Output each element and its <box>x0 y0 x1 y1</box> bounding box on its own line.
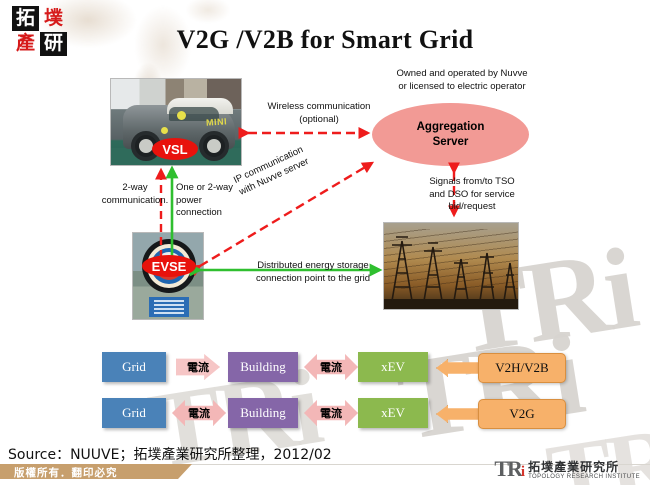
callout-v2h-v2b[interactable]: V2H/V2B <box>478 353 566 383</box>
ip-communication-label: IP communication with Nuvve server <box>232 125 351 198</box>
grid-horizon <box>384 299 518 309</box>
two-way-communication-label: 2-way communication. <box>96 182 174 207</box>
car-wheel <box>199 131 229 161</box>
flow-box-building[interactable]: Building <box>228 398 298 428</box>
flow-arrow-building-xev: 電流 <box>304 400 358 426</box>
car-brand-label: MINI <box>206 116 228 127</box>
tri-footer-logo: TRi 拓墣產業研究所 TOPOLOGY RESEARCH INSTITUTE <box>494 458 640 480</box>
flow-arrow-grid-to-building: 電流 <box>176 354 220 380</box>
evse-info-plate <box>149 297 189 317</box>
copyright-text: 版權所有．翻印必究 <box>14 465 118 480</box>
flow-box-xev[interactable]: xEV <box>358 352 428 382</box>
tri-wordmark: TRi <box>494 458 523 480</box>
vsl-tag: VSL <box>152 138 198 160</box>
aggregation-server-node: Aggregation Server <box>372 103 529 166</box>
aggregation-server-label: Aggregation Server <box>417 120 485 150</box>
car-badge-dot <box>161 127 168 134</box>
power-grid-photo <box>383 222 519 310</box>
slide-canvas: TRi TRi TRi TRi 拓 墣 產 研 V2G /V2B for Sma… <box>0 0 650 485</box>
wireless-communication-label: Wireless communication (optional) <box>248 101 390 126</box>
flow-box-xev[interactable]: xEV <box>358 398 428 428</box>
flow-box-grid[interactable]: Grid <box>102 352 166 382</box>
page-title: V2G /V2B for Smart Grid <box>0 25 650 55</box>
tri-name-en: TOPOLOGY RESEARCH INSTITUTE <box>528 474 640 480</box>
callout-v2g[interactable]: V2G <box>478 399 566 429</box>
flow-box-grid[interactable]: Grid <box>102 398 166 428</box>
owned-operated-note: Owned and operated by Nuvve or licensed … <box>372 68 552 93</box>
flow-box-building[interactable]: Building <box>228 352 298 382</box>
signals-tso-dso-label: Signals from/to TSO and DSO for service … <box>406 176 538 214</box>
car-badge-dot <box>177 111 186 120</box>
tri-wordmark-text: TR <box>494 456 521 481</box>
power-lines <box>384 229 518 289</box>
distributed-storage-label: Distributed energy storage connection po… <box>238 260 388 285</box>
tri-wordmark-dot: i <box>521 464 523 480</box>
source-line: Source：NUUVE；拓墣產業研究所整理，2012/02 <box>8 444 332 464</box>
flow-arrow-grid-building: 電流 <box>172 400 226 426</box>
evse-tag: EVSE <box>142 255 196 277</box>
tri-name-cn: 拓墣產業研究所 <box>528 461 640 474</box>
flow-arrow-building-xev: 電流 <box>304 354 358 380</box>
